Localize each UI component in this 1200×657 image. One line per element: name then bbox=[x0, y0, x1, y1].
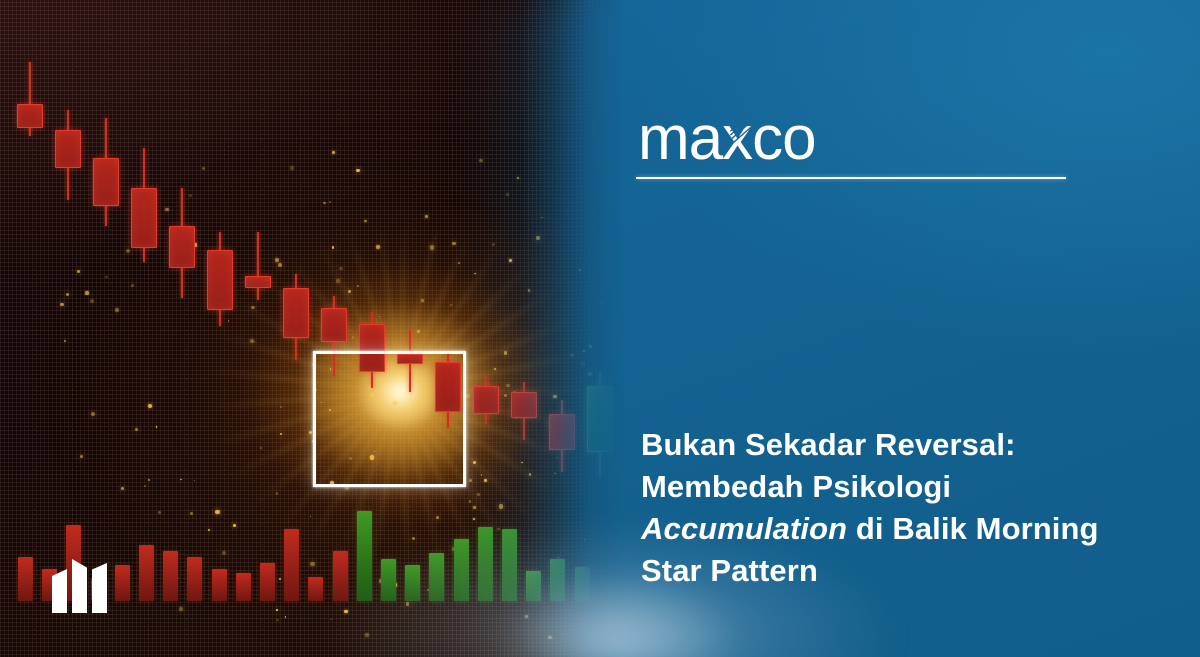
spark-particle bbox=[144, 485, 146, 487]
volume-bar-6 bbox=[163, 551, 178, 601]
spark-particle bbox=[77, 270, 80, 273]
spark-particle bbox=[80, 455, 83, 458]
spark-particle bbox=[357, 285, 359, 287]
spark-particle bbox=[105, 276, 108, 279]
volume-bar-10 bbox=[260, 563, 275, 601]
spark-particle bbox=[64, 340, 65, 341]
candlestick-3 bbox=[131, 148, 157, 262]
spark-particle bbox=[332, 246, 335, 249]
candle-body bbox=[245, 276, 271, 288]
spark-particle bbox=[90, 299, 94, 303]
spark-particle bbox=[251, 306, 254, 309]
volume-bar-11 bbox=[284, 529, 299, 601]
morning-star-pattern-highlight bbox=[313, 351, 466, 487]
candlestick-2 bbox=[93, 118, 119, 226]
spark-particle bbox=[179, 607, 183, 611]
spark-particle bbox=[254, 341, 255, 342]
volume-bar-9 bbox=[236, 573, 251, 601]
volume-bar-12 bbox=[308, 577, 323, 601]
spark-particle bbox=[435, 238, 437, 240]
candlestick-0 bbox=[17, 62, 43, 136]
candle-body bbox=[55, 130, 81, 168]
candlestick-7 bbox=[283, 274, 309, 360]
brand-divider-rule bbox=[636, 177, 1066, 179]
candle-body bbox=[169, 226, 195, 268]
spark-particle bbox=[310, 562, 314, 566]
spark-particle bbox=[339, 267, 343, 271]
spark-particle bbox=[285, 616, 286, 617]
spark-particle bbox=[202, 167, 205, 170]
spark-particle bbox=[278, 263, 282, 267]
spark-particle bbox=[332, 151, 335, 154]
spark-particle bbox=[309, 431, 312, 434]
page-title: Bukan Sekadar Reversal: Membedah Psikolo… bbox=[641, 424, 1141, 593]
volume-bar-0 bbox=[18, 557, 33, 601]
candle-body bbox=[17, 104, 43, 128]
spark-particle bbox=[279, 578, 281, 580]
spark-particle bbox=[85, 291, 89, 295]
maxco-article-banner: maxco Bukan Sekadar Reversal: Membedah P… bbox=[0, 0, 1200, 657]
spark-particle bbox=[60, 303, 63, 306]
headline-line-3-rest: di Balik Morning bbox=[847, 511, 1098, 546]
spark-particle bbox=[352, 336, 354, 338]
candle-body bbox=[131, 188, 157, 248]
spark-particle bbox=[91, 412, 95, 416]
spark-particle bbox=[260, 447, 262, 449]
candle-body bbox=[283, 288, 309, 338]
spark-particle bbox=[190, 512, 193, 515]
candle-wick bbox=[257, 232, 259, 300]
spark-particle bbox=[276, 609, 277, 610]
spark-particle bbox=[323, 202, 326, 205]
spark-particle bbox=[425, 215, 428, 218]
headline-line-2: Membedah Psikologi bbox=[641, 469, 951, 504]
spark-particle bbox=[310, 516, 311, 517]
spark-particle bbox=[364, 220, 366, 222]
headline-line-1: Bukan Sekadar Reversal: bbox=[641, 427, 1016, 462]
candlestick-6 bbox=[245, 232, 271, 300]
spark-particle bbox=[452, 242, 455, 245]
spark-particle bbox=[156, 426, 158, 428]
maxco-m-bars-icon bbox=[52, 559, 107, 613]
spark-particle bbox=[276, 619, 279, 622]
spark-particle bbox=[280, 406, 282, 408]
spark-particle bbox=[208, 529, 210, 531]
volume-bar-7 bbox=[187, 557, 202, 601]
spark-particle bbox=[121, 487, 125, 491]
spark-particle bbox=[329, 201, 331, 203]
spark-particle bbox=[134, 500, 135, 501]
spark-particle bbox=[450, 304, 452, 306]
spark-particle bbox=[421, 299, 424, 302]
spark-particle bbox=[115, 308, 119, 312]
candle-body bbox=[93, 158, 119, 206]
spark-particle bbox=[356, 169, 359, 172]
spark-particle bbox=[180, 479, 181, 480]
spark-particle bbox=[276, 492, 279, 495]
volume-bar-4 bbox=[115, 565, 130, 601]
spark-particle bbox=[280, 433, 282, 435]
spark-particle bbox=[288, 521, 290, 523]
candlestick-4 bbox=[169, 188, 195, 298]
candlestick-1 bbox=[55, 110, 81, 200]
spark-particle bbox=[348, 290, 351, 293]
spark-particle bbox=[233, 524, 236, 527]
spark-particle bbox=[290, 166, 293, 169]
spark-particle bbox=[131, 284, 134, 287]
volume-bar-8 bbox=[212, 569, 227, 601]
spark-particle bbox=[430, 245, 434, 249]
spark-particle bbox=[215, 510, 219, 514]
spark-particle bbox=[222, 551, 226, 555]
spark-particle bbox=[194, 480, 195, 481]
spark-particle bbox=[135, 428, 138, 431]
maxco-wordmark-text: maxco bbox=[638, 108, 816, 170]
spark-particle bbox=[148, 404, 152, 408]
spark-particle bbox=[275, 258, 279, 262]
spark-particle bbox=[376, 245, 380, 249]
candle-body bbox=[321, 308, 347, 342]
spark-particle bbox=[336, 279, 340, 283]
spark-particle bbox=[126, 249, 130, 253]
candlestick-5 bbox=[207, 232, 233, 326]
spark-particle bbox=[458, 262, 460, 264]
headline-emphasis-accumulation: Accumulation bbox=[641, 511, 847, 546]
volume-bar-5 bbox=[139, 545, 154, 601]
headline-line-4: Star Pattern bbox=[641, 553, 818, 588]
maxco-wordmark: maxco bbox=[638, 108, 816, 170]
spark-particle bbox=[250, 339, 254, 343]
spark-particle bbox=[158, 511, 161, 514]
spark-particle bbox=[148, 479, 150, 481]
spark-particle bbox=[66, 293, 69, 296]
candle-body bbox=[207, 250, 233, 310]
